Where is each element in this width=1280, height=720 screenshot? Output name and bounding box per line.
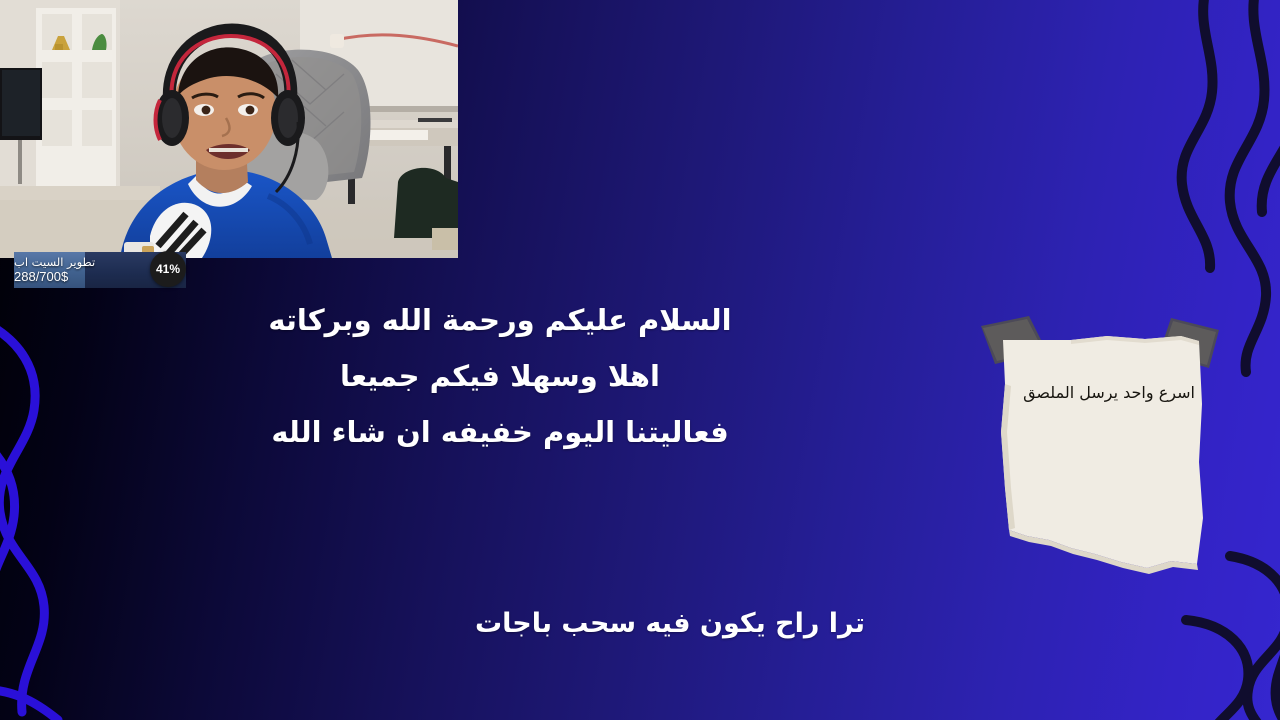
announcement-text: ترا راح يكون فيه سحب باجات [330,602,1010,646]
greeting-line-3: فعاليتنا اليوم خفيفه ان شاء الله [180,404,820,460]
webcam-feed[interactable] [0,0,458,258]
note-paper [1001,336,1203,568]
goal-title: تطوير السيت اب [14,256,95,269]
note-text: اسرع واحد يرسل الملصق [989,382,1229,404]
sticky-note: اسرع واحد يرسل الملصق [975,312,1240,602]
greeting-text-block: السلام عليكم ورحمة الله وبركاته اهلا وسه… [180,292,820,460]
goal-percent-badge: 41% [150,251,186,287]
greeting-line-1: السلام عليكم ورحمة الله وبركاته [180,292,820,348]
stream-overlay-stage: تطوير السيت اب 288/700$ 41% السلام عليكم… [0,0,1280,720]
greeting-line-2: اهلا وسهلا فيكم جميعا [180,348,820,404]
goal-amount: 288/700$ [14,269,68,284]
